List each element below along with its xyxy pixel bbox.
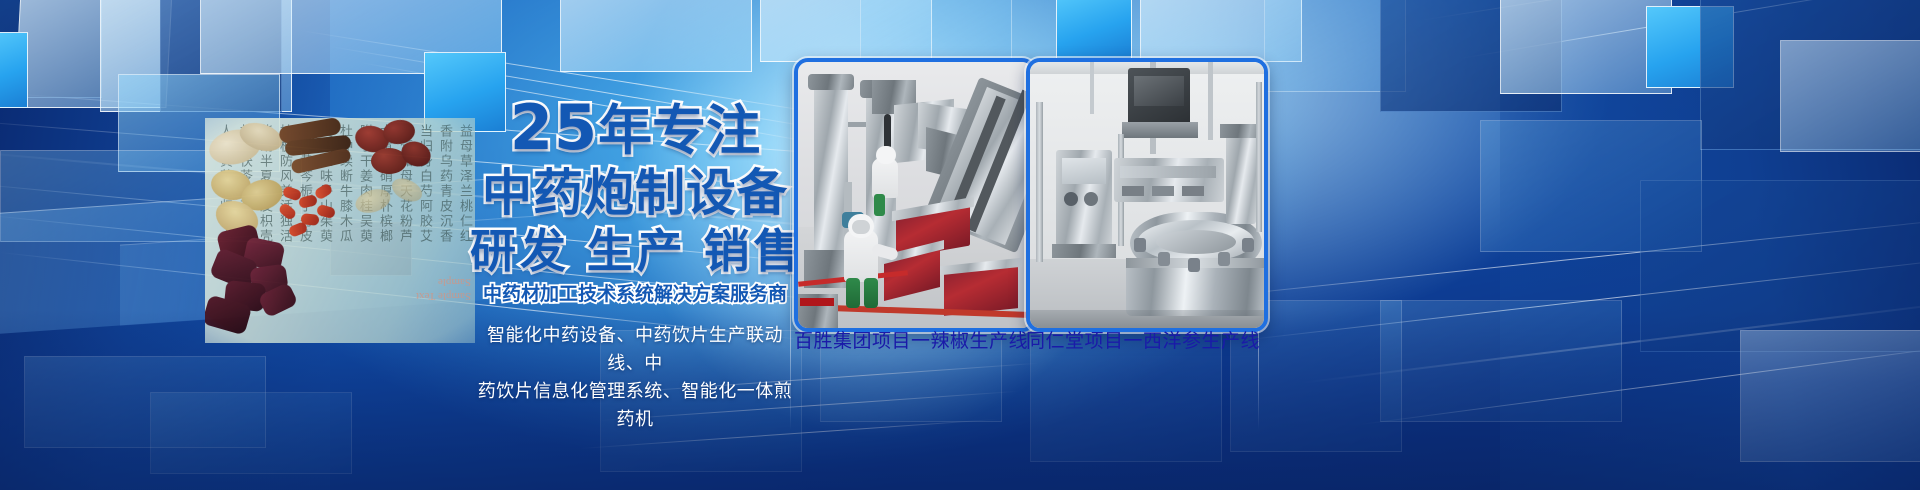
collage-watermark-line2: Sample: [416, 275, 471, 289]
description-line-2: 药饮片信息化管理系统、智能化一体煎药机: [470, 377, 800, 433]
project-card-chili[interactable]: [794, 58, 1036, 332]
headline-years-suffix: 年专注: [598, 99, 760, 162]
collage-watermark-line1: Sample Text: [416, 289, 471, 303]
headline-tagline: 中药材加工技术系统解决方案服务商: [470, 283, 800, 307]
dried-herbs-photo: [205, 118, 475, 343]
chili-production-line-photo: [798, 62, 1032, 328]
herbal-medicine-collage: 人参黄芪当归白术 甘草茯苓川芎熟地 柴胡半夏陈皮枳壳 桔梗防风羌活独活 黄连黄芩…: [205, 118, 475, 343]
project-card-chili-caption: 百胜集团项目一辣椒生产线: [794, 330, 1028, 354]
ginseng-production-line-photo: [1030, 62, 1264, 328]
headline-years-line: 25年专注: [470, 96, 800, 163]
collage-watermark: Sample Text Sample: [416, 275, 471, 303]
headline-line-3: 研发 生产 销售: [470, 225, 800, 277]
headline-text-block: 25年专注 中药炮制设备 研发 生产 销售 中药材加工技术系统解决方案服务商 智…: [470, 96, 800, 433]
headline-years-number: 25: [510, 91, 598, 164]
promo-banner: 人参黄芪当归白术 甘草茯苓川芎熟地 柴胡半夏陈皮枳壳 桔梗防风羌活独活 黄连黄芩…: [0, 0, 1920, 490]
headline-description: 智能化中药设备、中药饮片生产联动线、中 药饮片信息化管理系统、智能化一体煎药机: [470, 321, 800, 433]
project-card-ginseng-caption: 同仁堂项目一西洋参生产线: [1026, 330, 1260, 354]
project-card-ginseng[interactable]: [1026, 58, 1268, 332]
headline-line-2: 中药炮制设备: [470, 165, 800, 221]
description-line-1: 智能化中药设备、中药饮片生产联动线、中: [470, 321, 800, 377]
